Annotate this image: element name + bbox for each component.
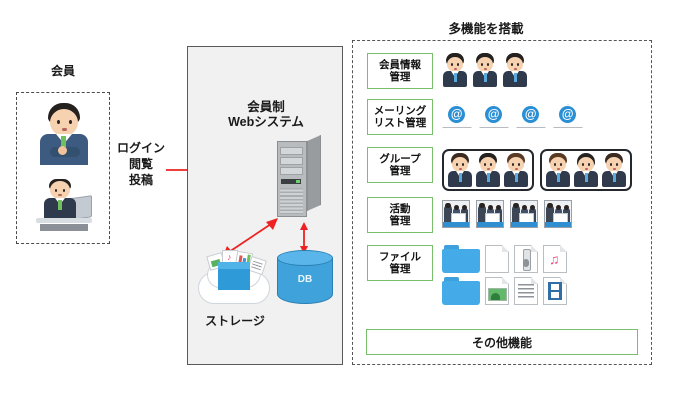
activity-photo-icon [510, 200, 538, 228]
access-actions-label: ログイン 閲覧 投稿 [112, 140, 170, 188]
email-envelope-at-icon: @ [442, 104, 472, 128]
activity-photo-icon [442, 200, 470, 228]
diagram-canvas: 会員 ログイン 閲覧 投稿 [0, 0, 700, 400]
feature-label-file: ファイル 管理 [367, 245, 433, 281]
feature-label-group: グループ 管理 [367, 147, 433, 183]
features-title: 多機能を搭載 [386, 18, 586, 37]
system-title: 会員制 Webシステム [196, 100, 336, 130]
member-laptop-icon [32, 179, 94, 233]
storage-caption: ストレージ [190, 312, 280, 329]
feature-row-member-info: 会員情報 管理 [353, 53, 653, 89]
email-envelope-at-icon: @ [553, 104, 583, 128]
feature-icons-member-info [442, 53, 528, 87]
feature-label-member-info: 会員情報 管理 [367, 53, 433, 89]
access-action-post: 投稿 [112, 172, 170, 188]
group-member-icon [475, 153, 501, 187]
feature-icons-file: ♫ [442, 245, 567, 305]
members-box [16, 92, 110, 244]
file-video-icon [543, 277, 567, 305]
email-envelope-at-icon: @ [516, 104, 546, 128]
file-music-icon: ♫ [543, 245, 567, 273]
group-member-icon [601, 153, 627, 187]
cloud-storage-icon: ♪ [196, 248, 274, 308]
feature-label-mailing-list: メーリング リスト管理 [367, 99, 433, 135]
file-folder-icon [442, 277, 480, 305]
member-person-icon [502, 53, 528, 87]
feature-icons-activity [442, 200, 572, 228]
features-box: 会員情報 管理 メーリング リスト管理 @ @ [352, 40, 652, 365]
group-member-icon [545, 153, 571, 187]
system-title-line2: Webシステム [196, 115, 336, 130]
group-member-icon [503, 153, 529, 187]
other-features-bar[interactable]: その他機能 [366, 329, 638, 355]
system-title-line1: 会員制 [196, 100, 336, 115]
member-standing-icon [36, 103, 92, 165]
server-tower-icon [277, 135, 323, 217]
group-member-icon [447, 153, 473, 187]
feature-row-mailing-list: メーリング リスト管理 @ @ @ @ [353, 99, 653, 135]
access-action-browse: 閲覧 [112, 156, 170, 172]
feature-row-file: ファイル 管理 ♫ [353, 245, 653, 305]
database-cylinder-icon: DB [277, 250, 333, 312]
feature-label-activity: 活動 管理 [367, 197, 433, 233]
activity-photo-icon [544, 200, 572, 228]
email-envelope-at-icon: @ [479, 104, 509, 128]
file-blank-icon [485, 245, 509, 273]
feature-icons-mailing-list: @ @ @ @ [442, 104, 583, 128]
group-panel-icon [540, 149, 632, 191]
activity-photo-icon [476, 200, 504, 228]
member-person-icon [442, 53, 468, 87]
members-title: 会員 [16, 62, 110, 79]
member-person-icon [472, 53, 498, 87]
group-panel-icon [442, 149, 534, 191]
feature-row-activity: 活動 管理 [353, 197, 653, 233]
db-label: DB [277, 274, 333, 285]
feature-icons-group [442, 149, 632, 191]
feature-row-group: グループ 管理 [353, 147, 653, 191]
access-action-login: ログイン [112, 140, 170, 156]
file-zip-icon [514, 245, 538, 273]
group-member-icon [573, 153, 599, 187]
file-image-icon [485, 277, 509, 305]
file-document-icon [514, 277, 538, 305]
file-folder-icon [442, 245, 480, 273]
